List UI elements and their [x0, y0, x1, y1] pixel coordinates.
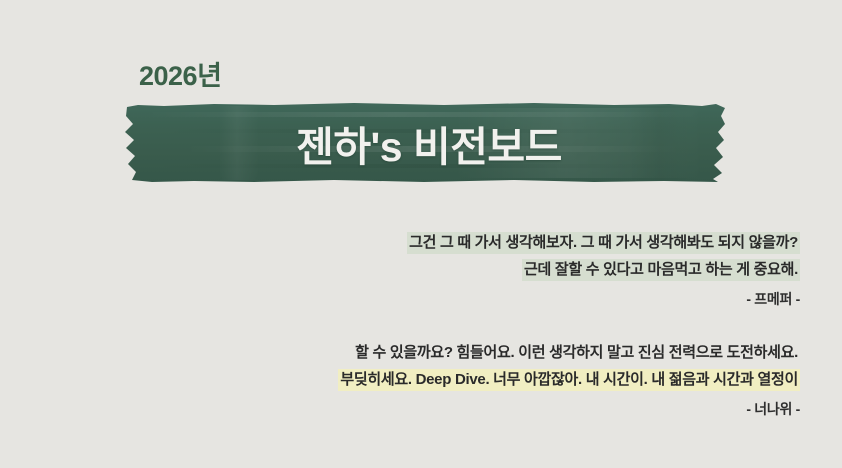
year-label: 2026년 [139, 63, 221, 90]
quote-line-text: 근데 잘할 수 있다고 마음먹고 하는 게 중요해. [522, 259, 800, 281]
quote-block: 그건 그 때 가서 생각해보자. 그 때 가서 생각해봐도 되지 않을까? 근데… [407, 229, 800, 313]
quote-attribution: - 프메퍼 - [407, 286, 800, 313]
quote-line: 할 수 있을까요? 힘들어요. 이런 생각하지 말고 진심 전력으로 도전하세요… [338, 339, 800, 366]
quote-line-text: 할 수 있을까요? 힘들어요. 이런 생각하지 말고 진심 전력으로 도전하세요… [353, 342, 800, 364]
quote-line-text: 부딪히세요. Deep Dive. 너무 아깝잖아. 내 시간이. 내 젊음과 … [338, 369, 800, 391]
vision-board-canvas: 2026년 [0, 0, 842, 468]
quote-block: 할 수 있을까요? 힘들어요. 이런 생각하지 말고 진심 전력으로 도전하세요… [338, 339, 800, 423]
title-banner: 젠하's 비전보드 [124, 102, 728, 184]
quote-line-text: 그건 그 때 가서 생각해보자. 그 때 가서 생각해봐도 되지 않을까? [407, 232, 800, 254]
quote-line: 그건 그 때 가서 생각해보자. 그 때 가서 생각해봐도 되지 않을까? [407, 229, 800, 256]
quote-line: 근데 잘할 수 있다고 마음먹고 하는 게 중요해. [407, 256, 800, 283]
board-title: 젠하's 비전보드 [124, 102, 728, 184]
quote-line: 부딪히세요. Deep Dive. 너무 아깝잖아. 내 시간이. 내 젊음과 … [338, 366, 800, 393]
quote-attribution: - 너나위 - [338, 396, 800, 423]
